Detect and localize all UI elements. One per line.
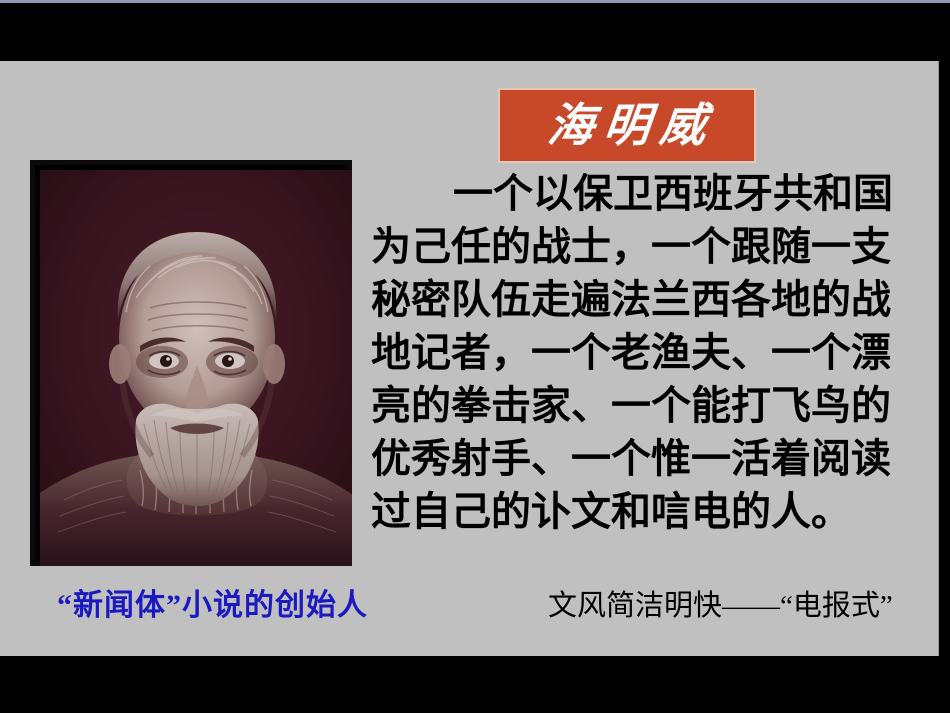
body-line-4: 地记者，一个老渔夫、一个漂 bbox=[371, 327, 939, 380]
slide-canvas: 海明威 一个以保卫西班牙共和国 为己任的战士，一个跟随一支 秘密队伍走遍法兰西各… bbox=[0, 61, 939, 656]
bottom-letterbox-bar bbox=[0, 656, 950, 713]
slide-screen: 海明威 一个以保卫西班牙共和国 为己任的战士，一个跟随一支 秘密队伍走遍法兰西各… bbox=[0, 0, 950, 713]
body-line-1: 一个以保卫西班牙共和国 bbox=[371, 168, 939, 221]
hemingway-portrait-frame bbox=[30, 160, 352, 566]
hemingway-portrait-image bbox=[40, 170, 352, 566]
title-plaque: 海明威 bbox=[498, 88, 756, 163]
body-line-2: 为己任的战士，一个跟随一支 bbox=[371, 221, 939, 274]
caption-journalistic-style: “新闻体”小说的创始人 bbox=[57, 580, 368, 624]
slide-right-edge bbox=[938, 61, 939, 656]
portrait-artwork bbox=[40, 170, 352, 566]
body-line-3: 秘密队伍走遍法兰西各地的战 bbox=[371, 274, 939, 327]
caption-telegraphic-style: 文风简洁明快——“电报式” bbox=[548, 582, 893, 624]
body-paragraph: 一个以保卫西班牙共和国 为己任的战士，一个跟随一支 秘密队伍走遍法兰西各地的战 … bbox=[371, 168, 939, 539]
title-text: 海明威 bbox=[536, 103, 719, 149]
body-line-7: 过自己的讣文和唁电的人。 bbox=[371, 486, 939, 539]
body-line-5: 亮的拳击家、一个能打飞鸟的 bbox=[371, 380, 939, 433]
top-letterbox-bar bbox=[0, 3, 950, 61]
body-line-6: 优秀射手、一个惟一活着阅读 bbox=[371, 433, 939, 486]
